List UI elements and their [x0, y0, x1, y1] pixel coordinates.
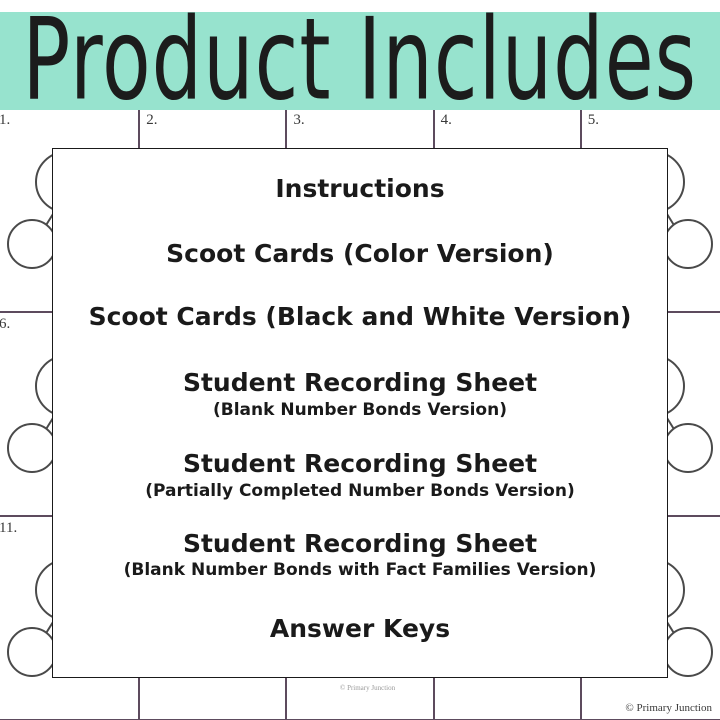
- list-item-subtitle: (Blank Number Bonds Version): [53, 400, 667, 420]
- product-includes-banner: Product Includes: [0, 12, 720, 110]
- bond-bottom-left-circle: [7, 627, 57, 677]
- list-item: Scoot Cards (Color Version): [53, 240, 667, 269]
- cell-number: 6.: [0, 316, 10, 333]
- list-item: Student Recording Sheet (Blank Number Bo…: [53, 369, 667, 420]
- list-item-subtitle: (Partially Completed Number Bonds Versio…: [53, 481, 667, 501]
- cell-number: 5.: [588, 112, 599, 129]
- bond-bottom-left-circle: [7, 423, 57, 473]
- includes-list-card: Instructions Scoot Cards (Color Version)…: [52, 148, 668, 678]
- list-item: Answer Keys: [53, 615, 667, 644]
- list-item-title: Scoot Cards (Color Version): [53, 240, 667, 269]
- list-item-title: Instructions: [53, 175, 667, 204]
- list-item-subtitle: (Blank Number Bonds with Fact Families V…: [53, 560, 667, 580]
- cell-number: 11.: [0, 520, 17, 537]
- worksheet-watermark: © Primary Junction: [340, 684, 395, 692]
- list-item-title: Student Recording Sheet: [53, 369, 667, 398]
- product-includes-page: 1. 2. 9 3.: [0, 0, 720, 720]
- list-item: Student Recording Sheet (Blank Number Bo…: [53, 530, 667, 581]
- list-item: Instructions: [53, 175, 667, 204]
- list-item-title: Answer Keys: [53, 615, 667, 644]
- cell-number: 4.: [441, 112, 452, 129]
- list-item-title: Scoot Cards (Black and White Version): [53, 303, 667, 332]
- bond-bottom-right-circle: [663, 423, 713, 473]
- bond-bottom-right-circle: [663, 627, 713, 677]
- cell-number: 3.: [293, 112, 304, 129]
- list-item: Student Recording Sheet (Partially Compl…: [53, 450, 667, 501]
- copyright-credit: © Primary Junction: [625, 702, 712, 714]
- bond-bottom-right-circle: [663, 219, 713, 269]
- list-item-title: Student Recording Sheet: [53, 450, 667, 479]
- cell-number: 1.: [0, 112, 10, 129]
- banner-title: Product Includes: [23, 12, 698, 110]
- bond-bottom-left-circle: [7, 219, 57, 269]
- cell-number: 2.: [146, 112, 157, 129]
- list-item-title: Student Recording Sheet: [53, 530, 667, 559]
- list-item: Scoot Cards (Black and White Version): [53, 303, 667, 332]
